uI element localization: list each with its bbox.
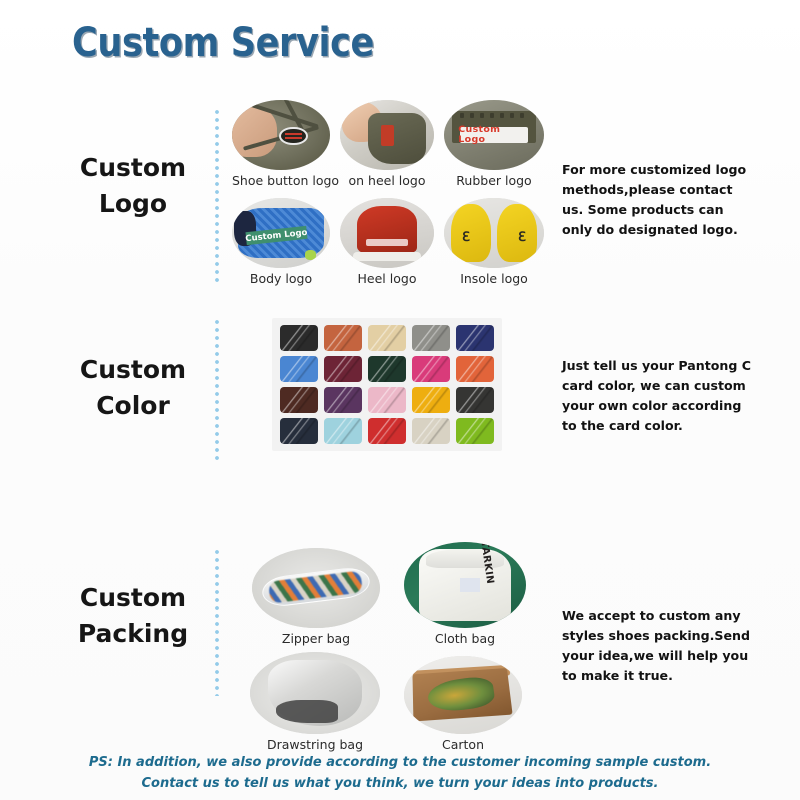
logo-photo-heel [340,198,434,268]
color-swatch[interactable] [368,387,406,413]
color-swatch[interactable] [412,325,450,351]
section-label-line2: Color [58,388,208,424]
packing-photo-carton [404,656,522,734]
section-label-line1: Custom [80,355,186,384]
divider-dotted-logo [214,108,220,286]
logo-item-heel[interactable]: Heel logo [340,198,434,286]
color-swatch[interactable] [368,356,406,382]
logo-photo-body: Custom Logo [232,198,330,268]
section-label-custom-packing: Custom Packing [58,580,208,651]
color-swatch-panel [272,318,502,451]
logo-photo-on-heel [340,100,434,170]
color-swatch-grid [280,325,494,444]
logo-caption-rubber: Rubber logo [444,173,544,188]
packing-item-cloth-bag[interactable]: TARKIN Cloth bag [404,542,526,646]
logo-caption-shoe-button: Shoe button logo [232,173,330,188]
section-label-custom-color: Custom Color [58,352,208,423]
packing-caption-drawstring-bag: Drawstring bag [250,737,380,752]
color-swatch[interactable] [368,418,406,444]
logo-item-insole[interactable]: ℇ ℇ Insole logo [444,198,544,286]
color-swatch[interactable] [412,418,450,444]
logo-item-shoe-button[interactable]: Shoe button logo [232,100,330,188]
packing-item-carton[interactable]: Carton [404,656,522,752]
color-swatch[interactable] [280,387,318,413]
packing-photo-cloth-bag: TARKIN [404,542,526,628]
color-swatch[interactable] [280,325,318,351]
packing-photo-zipper-bag [252,548,380,628]
color-swatch[interactable] [280,356,318,382]
packing-caption-zipper-bag: Zipper bag [252,631,380,646]
divider-dotted-packing [214,548,220,696]
color-swatch[interactable] [324,418,362,444]
section-label-line1: Custom [80,153,186,182]
logo-photo-rubber: Custom Logo [444,100,544,170]
section-label-line2: Logo [58,186,208,222]
page-title: Custom Service [72,20,374,66]
footer-note: PS: In addition, we also provide accordi… [0,752,800,794]
color-swatch[interactable] [368,325,406,351]
color-swatch[interactable] [324,325,362,351]
divider-dotted-color [214,318,220,463]
color-swatch[interactable] [456,325,494,351]
rubber-logo-label-text: Custom Logo [458,125,529,145]
rubber-logo-label: Custom Logo [460,127,528,143]
color-swatch[interactable] [412,356,450,382]
logo-caption-body: Body logo [232,271,330,286]
section-label-line2: Packing [58,616,208,652]
logo-caption-heel: Heel logo [340,271,434,286]
note-custom-logo: For more customized logo methods,please … [562,160,752,240]
logo-item-on-heel[interactable]: on heel logo [340,100,434,188]
section-label-line1: Custom [80,583,186,612]
color-swatch[interactable] [412,387,450,413]
color-swatch[interactable] [456,356,494,382]
logo-caption-on-heel: on heel logo [340,173,434,188]
logo-photo-shoe-button [232,100,330,170]
packing-item-drawstring-bag[interactable]: Drawstring bag [250,652,380,752]
color-swatch[interactable] [456,387,494,413]
logo-item-rubber[interactable]: Custom Logo Rubber logo [444,100,544,188]
footer-line-1: PS: In addition, we also provide accordi… [89,755,711,770]
logo-photo-insole: ℇ ℇ [444,198,544,268]
section-label-custom-logo: Custom Logo [58,150,208,221]
custom-service-page: Custom Service Custom Logo Shoe button l… [0,0,800,800]
packing-photo-drawstring-bag [250,652,380,734]
color-swatch[interactable] [324,356,362,382]
logo-item-body[interactable]: Custom Logo Body logo [232,198,330,286]
color-swatch[interactable] [280,418,318,444]
note-custom-color: Just tell us your Pantong C card color, … [562,356,752,436]
logo-caption-insole: Insole logo [444,271,544,286]
packing-item-zipper-bag[interactable]: Zipper bag [252,548,380,646]
packing-caption-cloth-bag: Cloth bag [404,631,526,646]
color-swatch[interactable] [324,387,362,413]
note-custom-packing: We accept to custom any styles shoes pac… [562,606,752,686]
footer-line-2: Contact us to tell us what you think, we… [0,773,800,794]
packing-caption-carton: Carton [404,737,522,752]
color-swatch[interactable] [456,418,494,444]
